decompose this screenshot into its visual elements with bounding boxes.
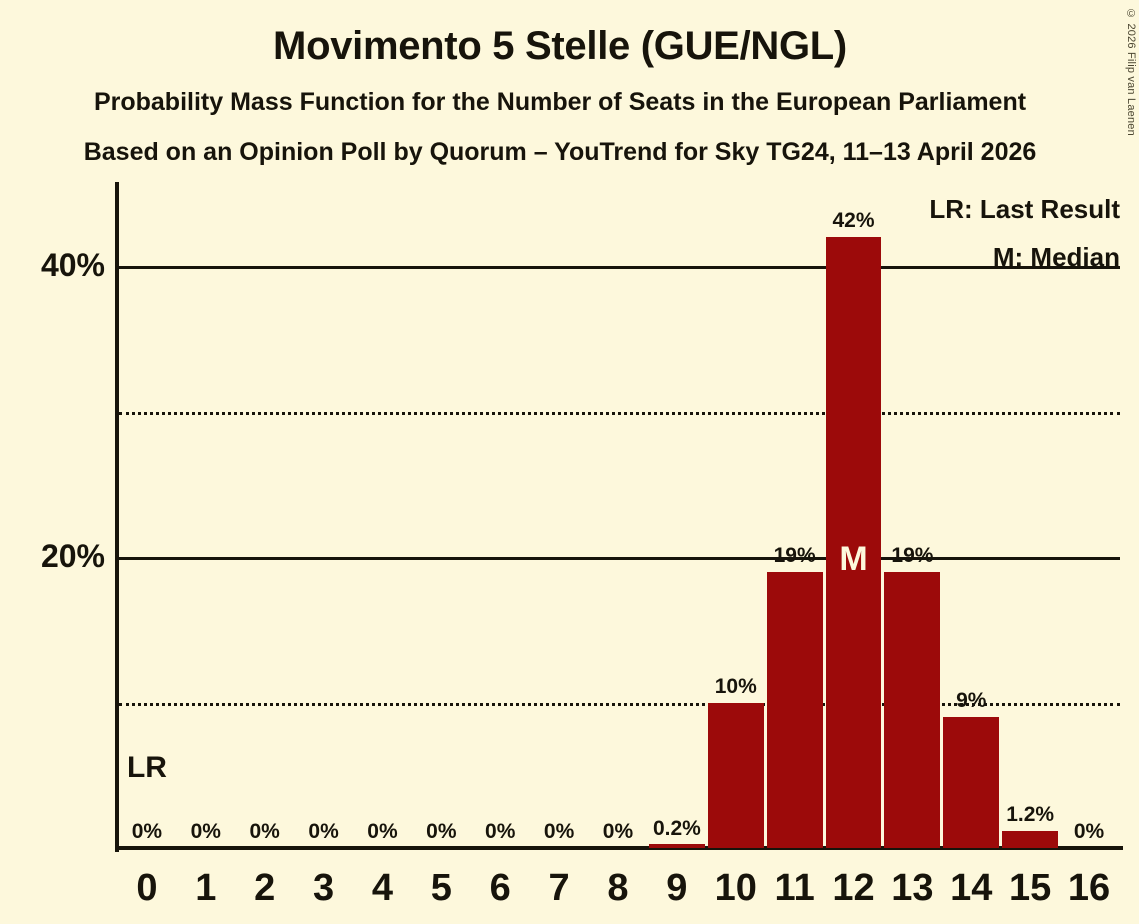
legend-item-median: M: Median	[929, 233, 1120, 281]
bar-value-label-8: 0%	[590, 821, 646, 842]
bar-value-label-0: 0%	[119, 821, 175, 842]
bar-seat-10[interactable]	[708, 703, 764, 849]
bar-seat-11[interactable]	[767, 572, 823, 848]
bar-value-label-4: 0%	[355, 821, 411, 842]
x-tick-label-7: 7	[531, 866, 587, 910]
copyright-notice: © 2026 Filip van Laenen	[1125, 8, 1137, 136]
x-tick-label-3: 3	[296, 866, 352, 910]
x-tick-label-4: 4	[355, 866, 411, 910]
x-tick-label-1: 1	[178, 866, 234, 910]
bar-value-label-16: 0%	[1061, 821, 1117, 842]
bar-value-label-5: 0%	[413, 821, 469, 842]
x-tick-label-0: 0	[119, 866, 175, 910]
x-tick-label-14: 14	[943, 866, 999, 910]
x-tick-label-16: 16	[1061, 866, 1117, 910]
legend-item-last-result: LR: Last Result	[929, 185, 1120, 233]
y-tick-label-40: 40%	[0, 249, 105, 281]
bar-seat-9[interactable]	[649, 844, 705, 848]
bar-value-label-3: 0%	[296, 821, 352, 842]
x-tick-label-9: 9	[649, 866, 705, 910]
bar-value-label-14: 9%	[943, 690, 999, 711]
x-tick-label-11: 11	[767, 866, 823, 910]
bar-value-label-9: 0.2%	[649, 818, 705, 839]
plot-area: 0%0%0%0%0%0%0%0%0%0.2%10%19%42%19%9%1.2%…	[119, 182, 1120, 848]
bar-value-label-2: 0%	[237, 821, 293, 842]
x-tick-label-5: 5	[413, 866, 469, 910]
last-result-marker: LR	[119, 753, 175, 783]
bar-value-label-1: 0%	[178, 821, 234, 842]
pmf-chart: Movimento 5 Stelle (GUE/NGL) Probability…	[0, 0, 1139, 924]
x-tick-label-15: 15	[1002, 866, 1058, 910]
bar-value-label-13: 19%	[884, 545, 940, 566]
x-tick-label-6: 6	[472, 866, 528, 910]
bar-value-label-10: 10%	[708, 676, 764, 697]
gridline-20	[119, 557, 1120, 560]
x-tick-label-2: 2	[237, 866, 293, 910]
bar-value-label-6: 0%	[472, 821, 528, 842]
bar-value-label-15: 1.2%	[1002, 804, 1058, 825]
bar-seat-13[interactable]	[884, 572, 940, 848]
chart-subtitle: Probability Mass Function for the Number…	[20, 86, 1100, 118]
chart-source-note: Based on an Opinion Poll by Quorum – You…	[20, 136, 1100, 168]
bar-seat-15[interactable]	[1002, 831, 1058, 848]
x-tick-label-13: 13	[884, 866, 940, 910]
page-title: Movimento 5 Stelle (GUE/NGL)	[20, 22, 1100, 70]
median-marker: M	[826, 542, 882, 576]
gridline-30	[119, 412, 1120, 415]
bar-value-label-7: 0%	[531, 821, 587, 842]
y-tick-label-20: 20%	[0, 540, 105, 572]
bar-value-label-12: 42%	[826, 210, 882, 231]
x-tick-label-12: 12	[826, 866, 882, 910]
legend: LR: Last Result M: Median	[929, 185, 1120, 281]
bar-value-label-11: 19%	[767, 545, 823, 566]
bar-seat-14[interactable]	[943, 717, 999, 848]
x-tick-label-10: 10	[708, 866, 764, 910]
x-tick-label-8: 8	[590, 866, 646, 910]
